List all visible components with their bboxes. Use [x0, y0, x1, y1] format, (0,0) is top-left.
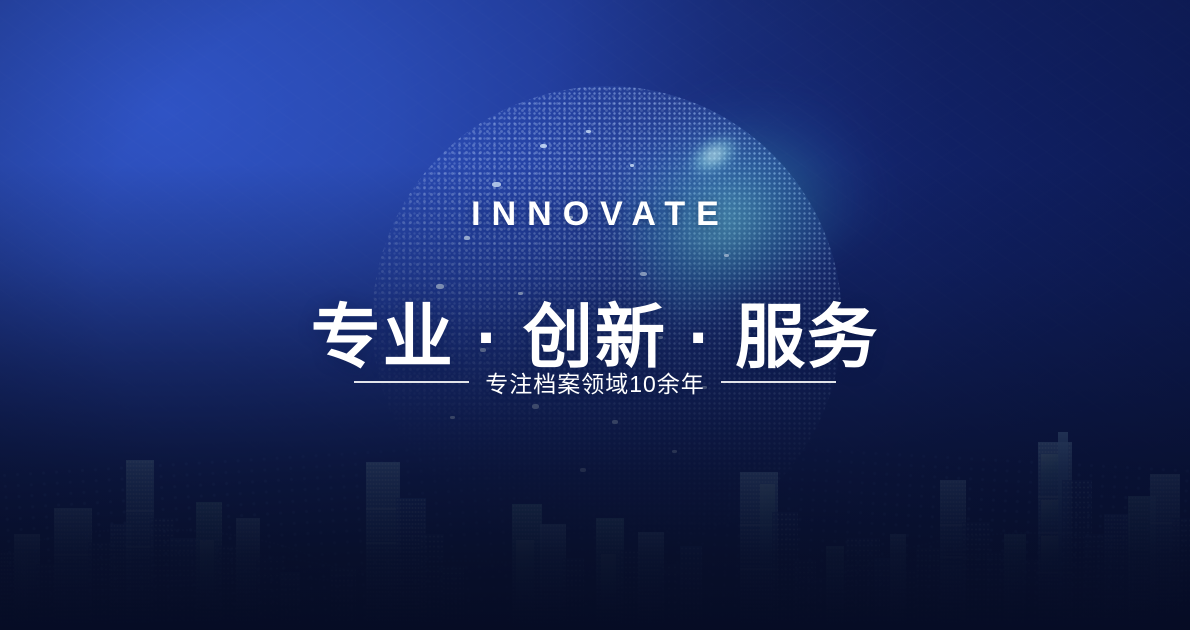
divider-line-right: [721, 381, 836, 383]
divider-line-left: [354, 381, 469, 383]
subtitle-text: 专注档案领域10余年: [485, 365, 705, 399]
hero-banner: INNOVATE 专业 · 创新 · 服务 专注档案领域10余年: [0, 0, 1190, 630]
kicker-text: INNOVATE: [0, 194, 1190, 234]
subtitle-row: 专注档案领域10余年: [0, 366, 1190, 398]
